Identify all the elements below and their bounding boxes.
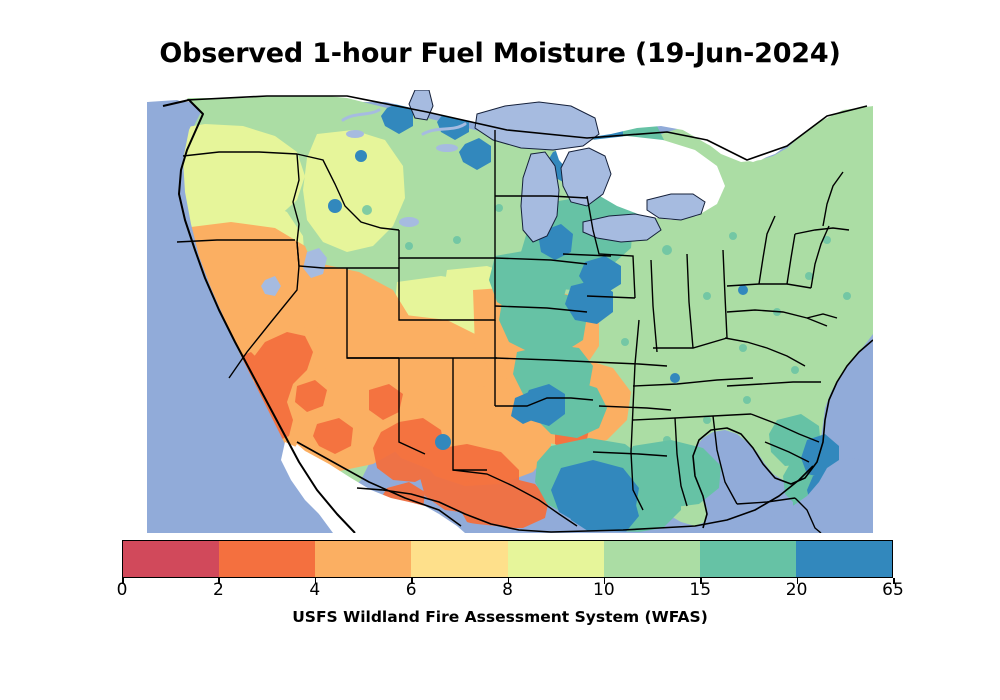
colorbar-caption: USFS Wildland Fire Assessment System (WF… <box>0 608 1000 626</box>
colorbar-tick-label-8: 8 <box>502 580 513 600</box>
colorbar-tick-label-0: 0 <box>117 580 128 600</box>
colorbar-tick-label-2: 2 <box>213 580 224 600</box>
map-panel <box>147 90 873 533</box>
colorbar-tick-label-4: 4 <box>309 580 320 600</box>
colorbar-tick-label-65: 65 <box>882 580 904 600</box>
colorbar-tick-label-6: 6 <box>406 580 417 600</box>
colorbar-tick-label-20: 20 <box>786 580 808 600</box>
colorbar-tick-label-10: 10 <box>593 580 615 600</box>
figure-root: Observed 1-hour Fuel Moisture (19-Jun-20… <box>0 0 1000 700</box>
colorbar-tick-label-15: 15 <box>689 580 711 600</box>
fuel-moisture-map <box>147 90 873 533</box>
page-title: Observed 1-hour Fuel Moisture (19-Jun-20… <box>0 38 1000 69</box>
